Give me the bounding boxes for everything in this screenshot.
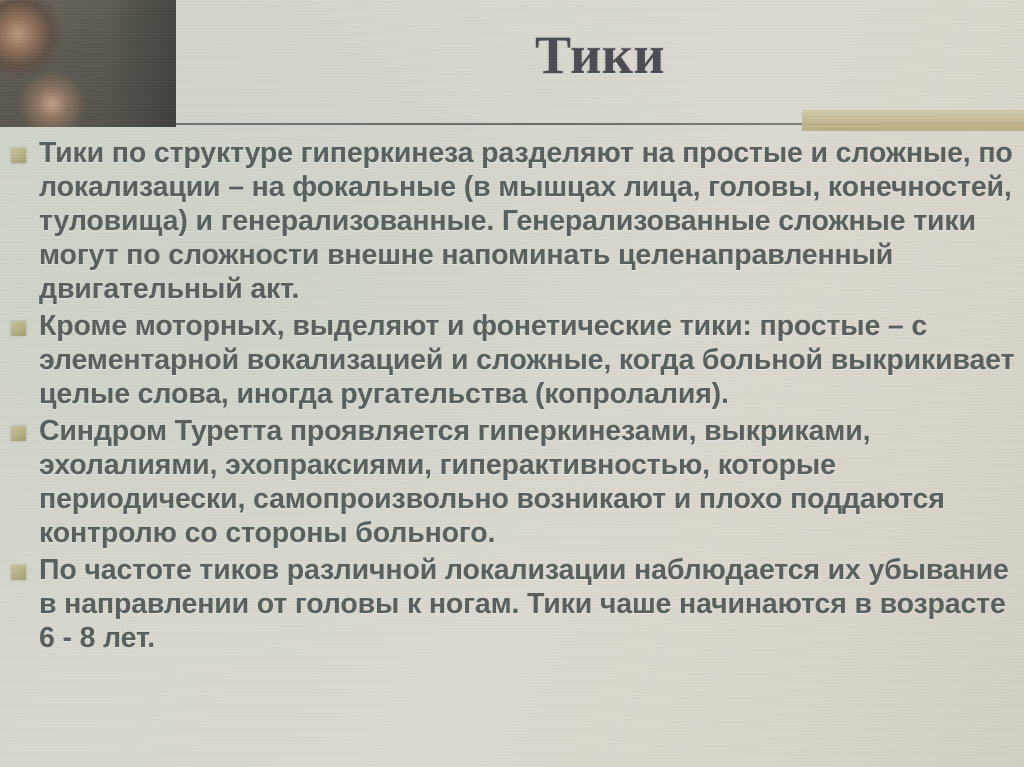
photo-thumbnail bbox=[0, 0, 176, 127]
accent-bar bbox=[802, 110, 1024, 131]
bullet-item-1: Тики по структуре гиперкинеза разделяют … bbox=[0, 136, 1024, 306]
square-bullet-icon bbox=[11, 426, 26, 441]
presentation-slide: Тики Тики по структуре гиперкинеза разде… bbox=[0, 0, 1024, 767]
square-bullet-icon bbox=[11, 148, 26, 163]
bullet-item-2: Кроме моторных, выделяют и фонетические … bbox=[0, 309, 1024, 411]
bullet-item-3: Синдром Туретта проявляется гиперкинезам… bbox=[0, 414, 1024, 550]
bullet-text-2: Кроме моторных, выделяют и фонетические … bbox=[39, 309, 1024, 411]
square-bullet-icon bbox=[11, 565, 26, 580]
slide-title: Тики bbox=[176, 0, 1024, 110]
bullet-item-4: По частоте тиков различной локализации н… bbox=[0, 553, 1024, 655]
bullet-text-1: Тики по структуре гиперкинеза разделяют … bbox=[39, 136, 1024, 306]
bullet-text-3: Синдром Туретта проявляется гиперкинезам… bbox=[39, 414, 1024, 550]
square-bullet-icon bbox=[11, 321, 26, 336]
slide-body: Тики по структуре гиперкинеза разделяют … bbox=[0, 136, 1024, 767]
bullet-text-4: По частоте тиков различной локализации н… bbox=[39, 553, 1024, 655]
